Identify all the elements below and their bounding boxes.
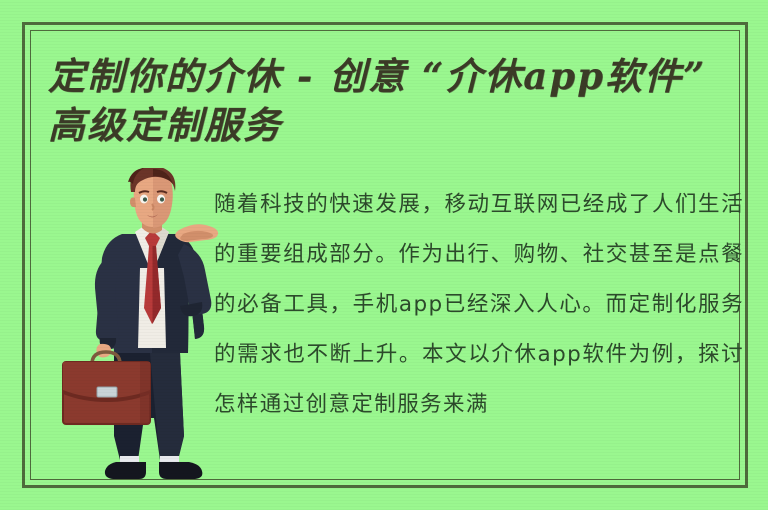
- title-line-2: 高级定制服务: [48, 101, 738, 150]
- body-paragraph: 随着科技的快速发展，移动互联网已经成了人们生活的重要组成部分。作为出行、购物、社…: [214, 180, 744, 430]
- shoe-right: [159, 462, 202, 479]
- briefcase-latch: [97, 387, 117, 397]
- pupil-right: [160, 197, 164, 201]
- title-line-1: 定制你的介休 - 创意 “介休app软件”: [48, 52, 738, 101]
- pupil-left: [143, 197, 147, 201]
- ear: [130, 198, 136, 208]
- poster-canvas: 定制你的介休 - 创意 “介休app软件” 高级定制服务 随着科技的快速发展，移…: [0, 0, 768, 510]
- businessman-illustration: [56, 168, 236, 488]
- trousers-highlight: [150, 353, 184, 460]
- shoe-left: [105, 462, 146, 479]
- poster-body: 随着科技的快速发展，移动互联网已经成了人们生活的重要组成部分。作为出行、购物、社…: [214, 180, 744, 480]
- sock-right: [160, 456, 179, 463]
- briefcase-side-shade: [140, 362, 150, 424]
- businessman-figure-svg: [56, 168, 236, 488]
- sock-left: [120, 456, 139, 463]
- poster-title: 定制你的介休 - 创意 “介休app软件” 高级定制服务: [48, 52, 738, 150]
